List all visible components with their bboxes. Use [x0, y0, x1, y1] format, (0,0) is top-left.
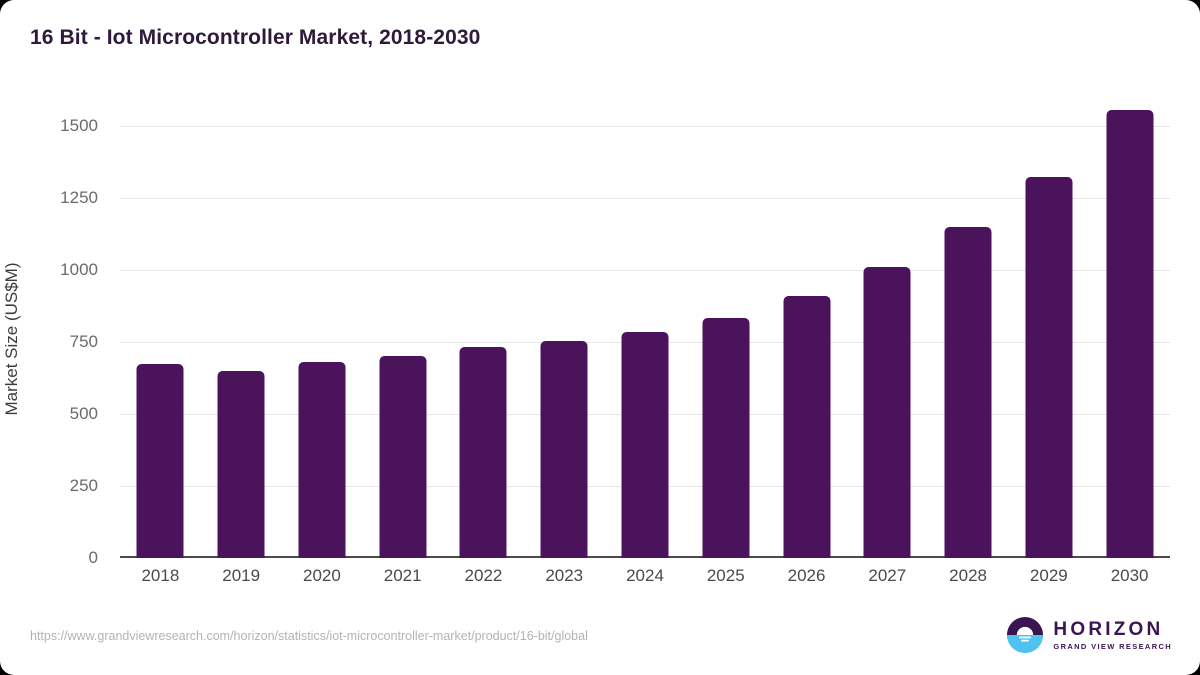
chart-card: 16 Bit - Iot Microcontroller Market, 201…: [0, 0, 1200, 675]
x-axis-tick-labels: 2018201920202021202220232024202520262027…: [120, 566, 1170, 602]
bar-slot[interactable]: [847, 100, 928, 558]
bar[interactable]: [298, 362, 345, 558]
x-axis-tick: 2026: [766, 566, 847, 586]
horizon-logo: HORIZON GRAND VIEW RESEARCH: [1006, 616, 1172, 654]
x-axis-tick: 2023: [524, 566, 605, 586]
bar-slot[interactable]: [120, 100, 201, 558]
x-axis-tick: 2030: [1089, 566, 1170, 586]
horizon-logo-icon: [1006, 616, 1044, 654]
bar-slot[interactable]: [1089, 100, 1170, 558]
bar[interactable]: [379, 356, 426, 558]
bar-slot[interactable]: [605, 100, 686, 558]
x-axis-tick: 2019: [201, 566, 282, 586]
bar[interactable]: [460, 347, 507, 558]
y-axis-tick: 0: [89, 548, 98, 568]
logo-tagline: GRAND VIEW RESEARCH: [1053, 643, 1172, 651]
x-axis-tick: 2020: [282, 566, 363, 586]
bar-slot[interactable]: [524, 100, 605, 558]
bar[interactable]: [621, 332, 668, 558]
bar[interactable]: [1025, 177, 1072, 558]
x-axis-tick: 2024: [605, 566, 686, 586]
y-axis-tick: 1000: [60, 260, 98, 280]
bar-slot[interactable]: [928, 100, 1009, 558]
bar-slot[interactable]: [362, 100, 443, 558]
bar[interactable]: [541, 341, 588, 558]
bar[interactable]: [864, 267, 911, 558]
x-axis-tick: 2028: [928, 566, 1009, 586]
bar-slot[interactable]: [766, 100, 847, 558]
bar[interactable]: [945, 227, 992, 558]
bar[interactable]: [137, 364, 184, 558]
x-axis-tick: 2027: [847, 566, 928, 586]
bar[interactable]: [702, 318, 749, 558]
bar[interactable]: [218, 371, 265, 558]
logo-wordmark: HORIZON: [1053, 620, 1172, 639]
y-axis-tick-labels: 0250500750100012501500: [0, 100, 110, 558]
bar-slot[interactable]: [685, 100, 766, 558]
x-axis-tick: 2025: [685, 566, 766, 586]
page-title: 16 Bit - Iot Microcontroller Market, 201…: [30, 26, 480, 50]
x-axis-tick: 2029: [1008, 566, 1089, 586]
bar-slot[interactable]: [201, 100, 282, 558]
horizon-logo-text: HORIZON GRAND VIEW RESEARCH: [1053, 620, 1172, 651]
y-axis-tick: 500: [70, 404, 98, 424]
x-axis-tick: 2021: [362, 566, 443, 586]
x-axis-tick: 2018: [120, 566, 201, 586]
x-axis-tick: 2022: [443, 566, 524, 586]
y-axis-tick: 1500: [60, 116, 98, 136]
bar-series: [120, 100, 1170, 558]
y-axis-tick: 1250: [60, 188, 98, 208]
y-axis-tick: 750: [70, 332, 98, 352]
bar-slot[interactable]: [443, 100, 524, 558]
bar[interactable]: [1106, 110, 1153, 558]
bar[interactable]: [783, 296, 830, 558]
bar-slot[interactable]: [1008, 100, 1089, 558]
y-axis-tick: 250: [70, 476, 98, 496]
source-url[interactable]: https://www.grandviewresearch.com/horizo…: [30, 629, 588, 643]
bar-slot[interactable]: [282, 100, 363, 558]
